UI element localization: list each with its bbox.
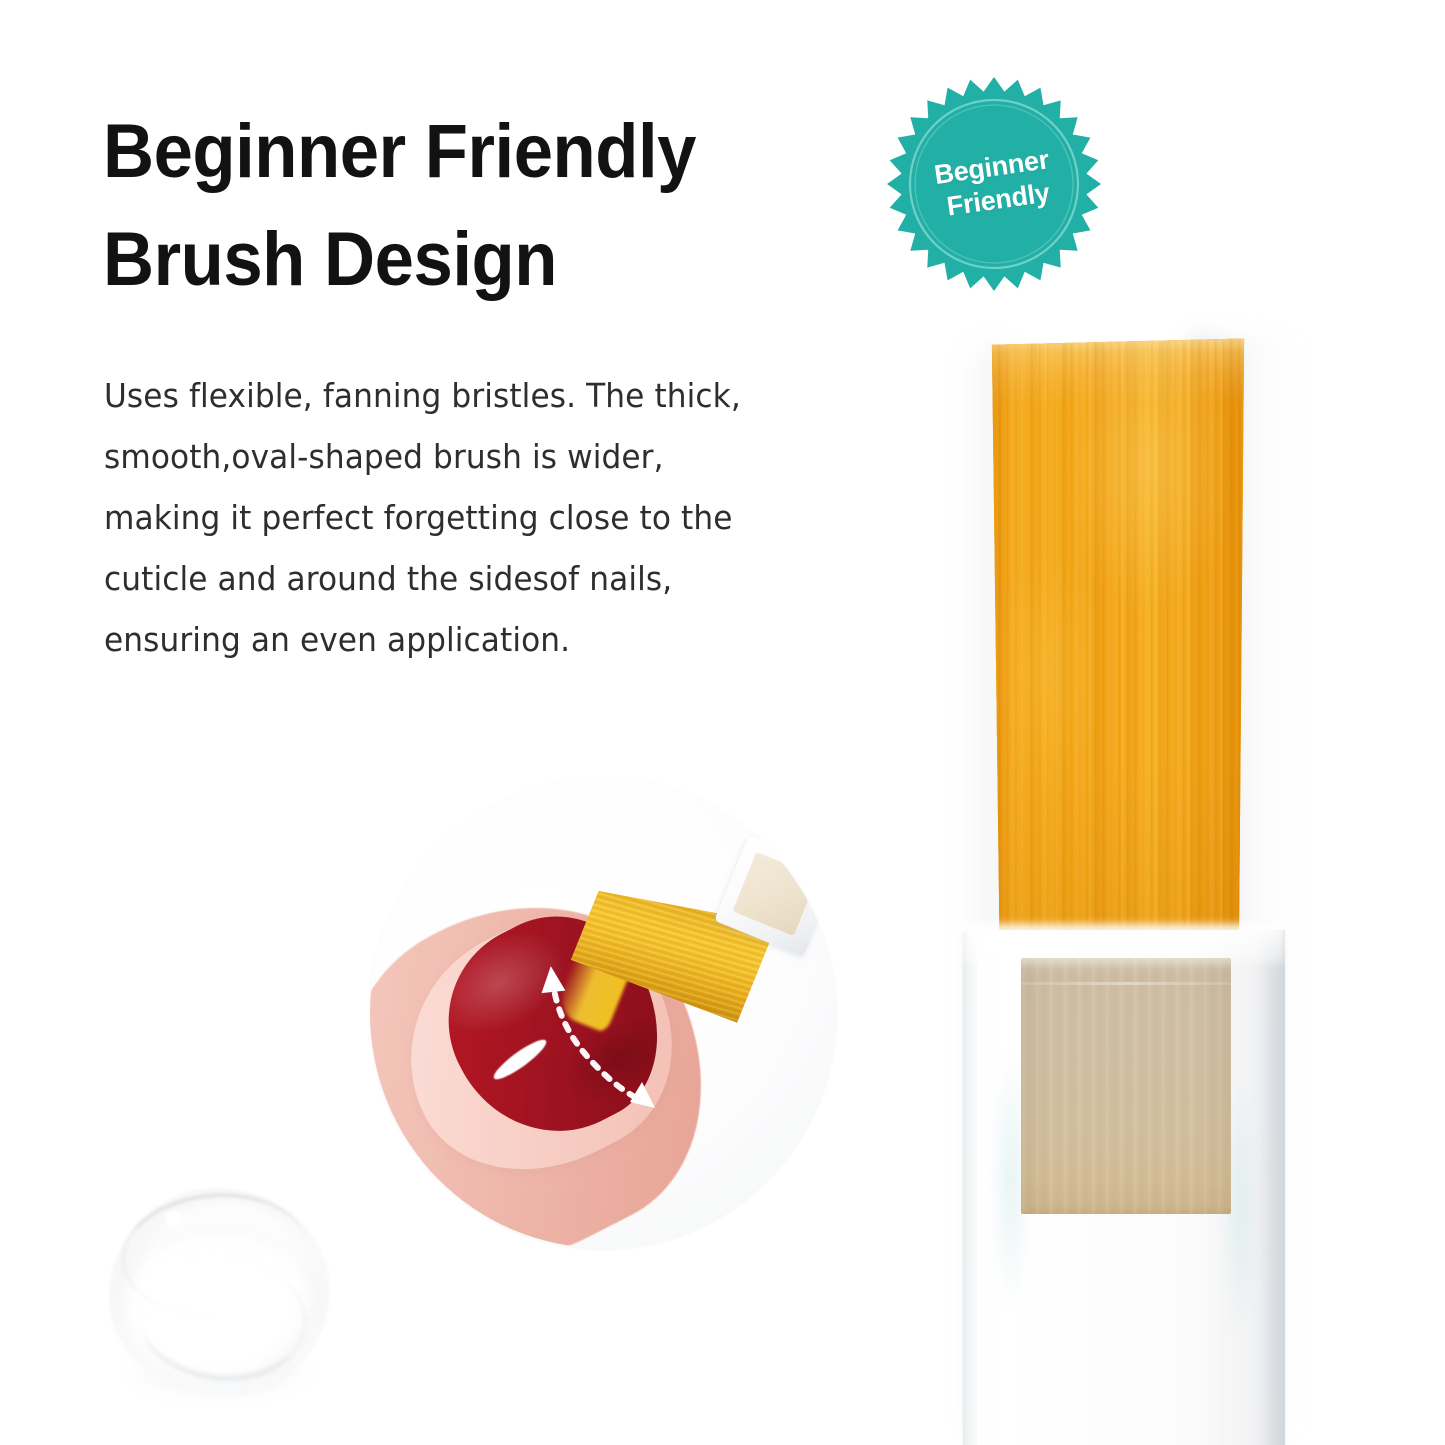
- handle-right-edge: [1259, 930, 1285, 1445]
- starburst-seal-icon: [886, 76, 1102, 292]
- droplet-highlight-large: [166, 1212, 180, 1225]
- brush-bristles: [988, 326, 1248, 951]
- brush-ferrule-insert: [1021, 958, 1231, 1214]
- description-text: Uses flexible, fanning bristles. The thi…: [104, 366, 872, 671]
- bristle-feathered-tip: [988, 324, 1248, 406]
- ferrule-seam-line: [1021, 982, 1231, 985]
- application-demo-inset: [370, 778, 836, 1248]
- ferrule-shading: [1021, 958, 1231, 1214]
- nail-brush-product-image: [955, 318, 1295, 1445]
- beginner-friendly-badge: Beginner Friendly: [886, 76, 1102, 292]
- page-title: Beginner Friendly Brush Design: [103, 98, 810, 314]
- product-infographic: Beginner Friendly Brush Design Uses flex…: [0, 0, 1445, 1445]
- bristle-gloss: [988, 326, 1248, 951]
- bristle-handle-glow: [963, 924, 1285, 964]
- water-droplet-decoration: [108, 1186, 330, 1398]
- droplet-highlight-small: [160, 1262, 167, 1268]
- stroke-direction-arrow-icon: [518, 962, 688, 1138]
